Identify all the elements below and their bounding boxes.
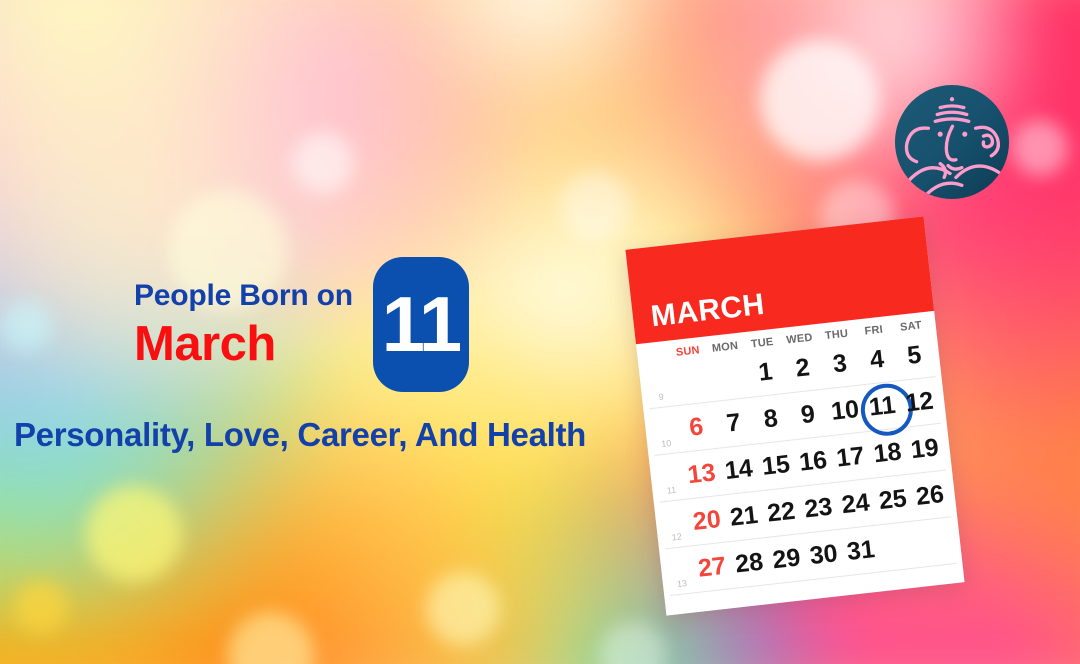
calendar-day-empty	[879, 544, 916, 548]
day-number-badge-label: 11	[382, 285, 460, 363]
calendar-day[interactable]: 1	[745, 356, 785, 389]
calendar-day[interactable]: 28	[729, 547, 769, 580]
calendar-day[interactable]: 26	[910, 479, 950, 512]
calendar-day[interactable]: 30	[803, 538, 843, 571]
headline-block: People Born on March 11 Personality, Lov…	[0, 262, 600, 459]
calendar-day[interactable]: 11	[862, 390, 902, 423]
calendar-day[interactable]: 29	[766, 542, 806, 575]
calendar-week-number: 12	[663, 531, 691, 549]
calendar-month-label: MARCH	[649, 288, 766, 335]
calendar-day[interactable]: 6	[676, 411, 716, 444]
calendar-day[interactable]: 24	[835, 487, 875, 520]
calendar-week-number: 13	[669, 577, 697, 595]
calendar-day[interactable]: 22	[761, 496, 801, 529]
calendar-day[interactable]: 21	[724, 500, 764, 533]
calendar-day[interactable]: 7	[713, 406, 753, 439]
calendar-week-number: 9	[648, 390, 676, 408]
calendar-day[interactable]: 19	[905, 432, 945, 465]
day-number-badge: 11	[373, 257, 469, 392]
calendar-day[interactable]: 17	[830, 441, 870, 474]
calendar-day-empty	[672, 378, 709, 382]
calendar-day-empty	[917, 540, 954, 544]
calendar-day[interactable]: 20	[687, 504, 727, 537]
calendar-day[interactable]: 8	[750, 402, 790, 435]
calendar-day[interactable]: 16	[793, 445, 833, 478]
calendar-day[interactable]: 3	[820, 347, 860, 380]
calendar-day[interactable]: 27	[692, 551, 732, 584]
headline-eyebrow: People Born on	[134, 280, 353, 312]
calendar-day[interactable]: 25	[873, 483, 913, 516]
calendar-card: MARCH SUN MON TUE WED THU FRI SAT 912345…	[625, 216, 964, 615]
calendar-day[interactable]: 9	[788, 398, 828, 431]
calendar-day[interactable]: 18	[867, 436, 907, 469]
calendar-day[interactable]: 31	[841, 534, 881, 567]
calendar-day[interactable]: 23	[798, 491, 838, 524]
headline-top-row: People Born on March 11	[0, 262, 600, 390]
calendar-day[interactable]: 5	[894, 339, 934, 372]
calendar-day[interactable]: 4	[857, 343, 897, 376]
calendar-day[interactable]: 13	[681, 457, 721, 490]
headline-subtitle: Personality, Love, Career, And Health	[0, 412, 600, 459]
calendar-day-empty	[710, 374, 747, 378]
calendar-week-number: 11	[658, 484, 686, 502]
ganesha-logo-icon	[893, 83, 1011, 201]
title-stack: People Born on March	[134, 280, 353, 372]
calendar-day[interactable]: 2	[782, 351, 822, 384]
headline-month: March	[134, 317, 353, 372]
calendar-day[interactable]: 10	[825, 394, 865, 427]
calendar-grid: 9123451067891011121113141516171819122021…	[644, 330, 956, 596]
ganesha-logo	[893, 83, 1011, 201]
calendar-body: SUN MON TUE WED THU FRI SAT 912345106789…	[636, 311, 962, 597]
calendar-day[interactable]: 14	[719, 453, 759, 486]
banner-canvas: People Born on March 11 Personality, Lov…	[0, 0, 1080, 664]
calendar-day[interactable]: 12	[899, 386, 939, 419]
calendar-day[interactable]: 15	[756, 449, 796, 482]
calendar-week-number: 10	[653, 437, 681, 455]
